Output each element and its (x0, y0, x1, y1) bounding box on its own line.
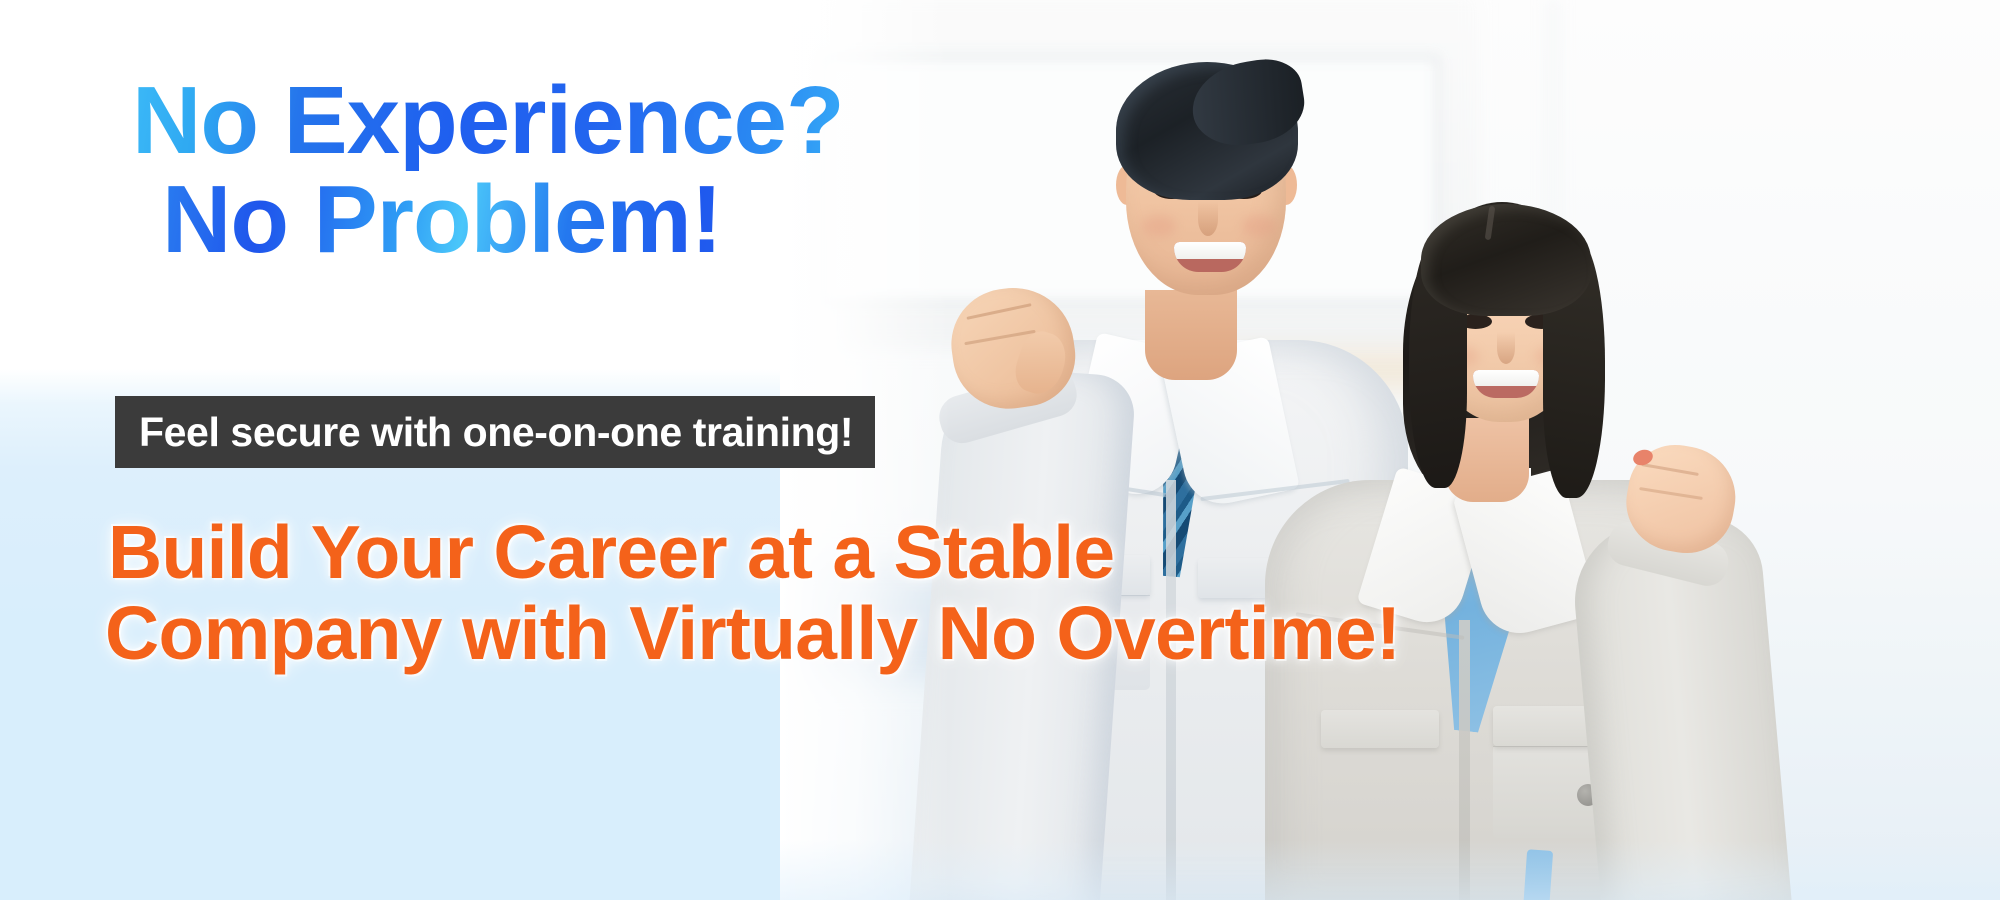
headline-orange-line-2: Company with Virtually No Overtime! (105, 593, 1300, 674)
subtitle-text: Feel secure with one-on-one training! (139, 409, 853, 456)
headline-orange-line-1: Build Your Career at a Stable (108, 512, 1300, 593)
subtitle-badge: Feel secure with one-on-one training! (115, 396, 875, 468)
text-overlay: No Experience? No Problem! Feel secure w… (0, 0, 2000, 900)
headline-blue: No Experience? No Problem! (0, 72, 900, 270)
headline-blue-line-2: No Problem! (162, 171, 900, 270)
headline-blue-line-1: No Experience? (132, 72, 900, 171)
recruitment-banner: No Experience? No Problem! Feel secure w… (0, 0, 2000, 900)
headline-orange: Build Your Career at a Stable Company wi… (0, 512, 1300, 674)
